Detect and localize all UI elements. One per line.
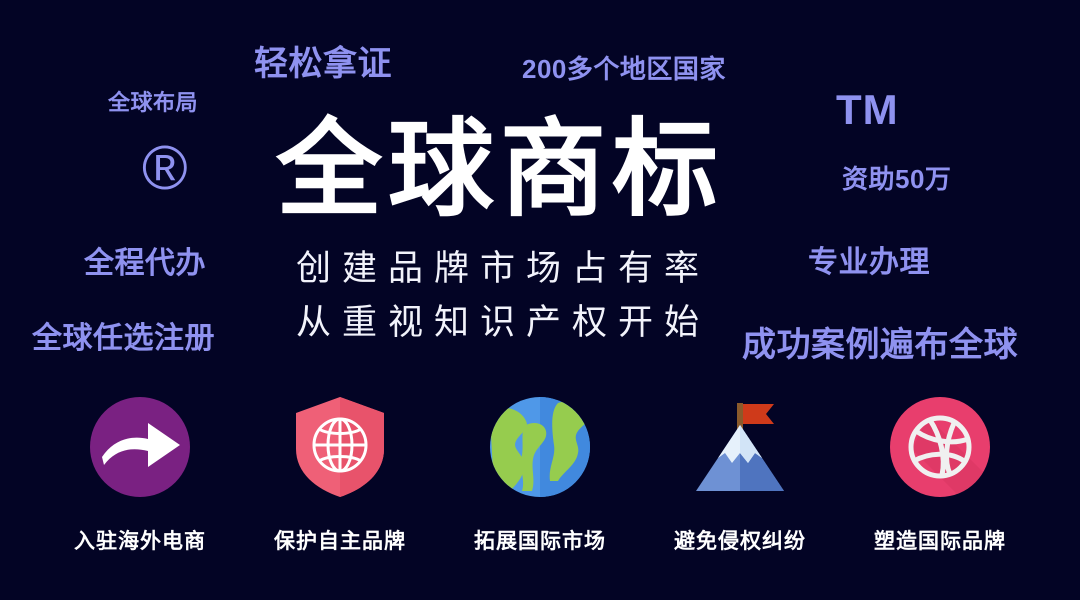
- keyword-subsidy: 资助50万: [842, 166, 951, 192]
- feature-label: 入驻海外电商: [74, 525, 206, 555]
- keyword-professional-service: 专业办理: [808, 248, 930, 278]
- feature-label: 拓展国际市场: [474, 525, 606, 555]
- shield-globe-icon: [288, 395, 392, 499]
- keyword-global-layout: 全球布局: [108, 92, 198, 114]
- hero-subtitle-line-2: 从重视知识产权开始: [296, 305, 710, 340]
- feature-label: 保护自主品牌: [274, 525, 406, 555]
- keyword-register-anywhere: 全球任选注册: [32, 324, 215, 354]
- arrow-circle-icon: [88, 395, 192, 499]
- feature-item-overseas-ecommerce[interactable]: 入驻海外电商: [58, 395, 222, 570]
- feature-label: 避免侵权纠纷: [674, 525, 806, 555]
- keyword-countries-count: 200多个地区国家: [522, 56, 726, 82]
- keyword-cases-worldwide: 成功案例遍布全球: [742, 328, 1018, 362]
- feature-item-build-brand[interactable]: 塑造国际品牌: [858, 395, 1022, 570]
- feature-item-protect-brand[interactable]: 保护自主品牌: [258, 395, 422, 570]
- keyword-easy-certificate: 轻松拿证: [254, 47, 392, 81]
- feature-row: 入驻海外电商 保护自主品牌: [0, 395, 1080, 570]
- feature-item-avoid-infringement[interactable]: 避免侵权纠纷: [658, 395, 822, 570]
- keyword-full-agency: 全程代办: [84, 249, 206, 279]
- hero-title: 全球商标: [276, 117, 724, 223]
- trademark-mark-icon: TM: [836, 89, 899, 131]
- registered-mark-icon: ®: [142, 138, 188, 200]
- dribbble-ball-icon: [888, 395, 992, 499]
- feature-item-expand-market[interactable]: 拓展国际市场: [458, 395, 622, 570]
- earth-globe-icon: [488, 395, 592, 499]
- mountain-flag-icon: [688, 395, 792, 499]
- feature-label: 塑造国际品牌: [874, 525, 1006, 555]
- promo-banner: 全球布局 ® 轻松拿证 200多个地区国家 TM 资助50万 专业办理 全程代办…: [0, 0, 1080, 600]
- hero-subtitle-line-1: 创建品牌市场占有率: [296, 251, 710, 286]
